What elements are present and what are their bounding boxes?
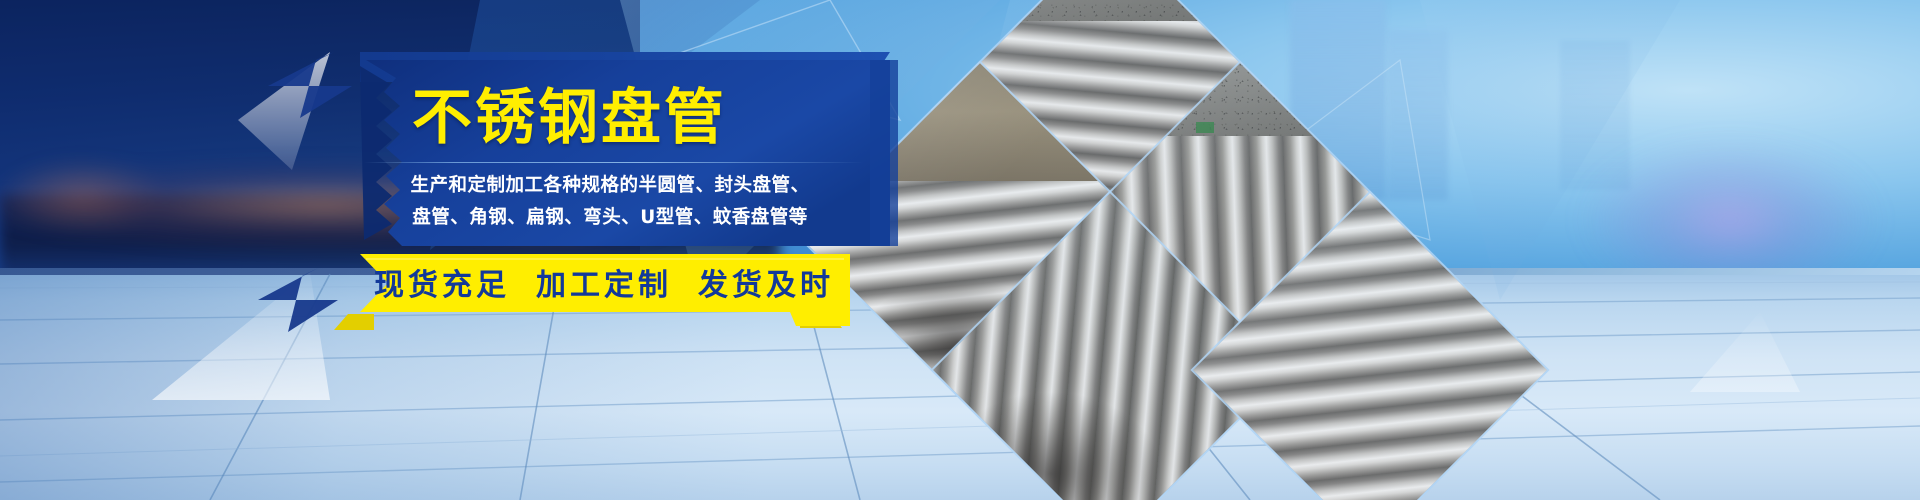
slogan-item-2: 加工定制	[536, 260, 672, 304]
slogan-item-1: 现货充足	[374, 260, 510, 304]
promo-banner: 不锈钢盘管 生产和定制加工各种规格的半圆管、封头盘管、 盘管、角钢、扁钢、弯头、…	[0, 0, 1920, 500]
slogan-ribbon: 现货充足 加工定制 发货及时	[330, 252, 850, 330]
background-building-2	[1388, 30, 1448, 200]
background-tower-far	[1560, 40, 1630, 190]
headline-plate-content: 不锈钢盘管 生产和定制加工各种规格的半圆管、封头盘管、 盘管、角钢、扁钢、弯头、…	[330, 40, 930, 270]
subtitle-line-2: 盘管、角钢、扁钢、弯头、U型管、蚊香盘管等	[370, 202, 850, 234]
page-title: 不锈钢盘管	[412, 88, 727, 148]
subtitle-block: 生产和定制加工各种规格的半圆管、封头盘管、 盘管、角钢、扁钢、弯头、U型管、蚊香…	[370, 170, 850, 234]
slogan-item-3: 发货及时	[698, 260, 834, 304]
subtitle-line-1: 生产和定制加工各种规格的半圆管、封头盘管、	[370, 170, 850, 202]
title-divider	[364, 162, 864, 163]
headline-plate: 不锈钢盘管 生产和定制加工各种规格的半圆管、封头盘管、 盘管、角钢、扁钢、弯头、…	[330, 40, 930, 270]
slogan-list: 现货充足 加工定制 发货及时	[330, 252, 850, 312]
